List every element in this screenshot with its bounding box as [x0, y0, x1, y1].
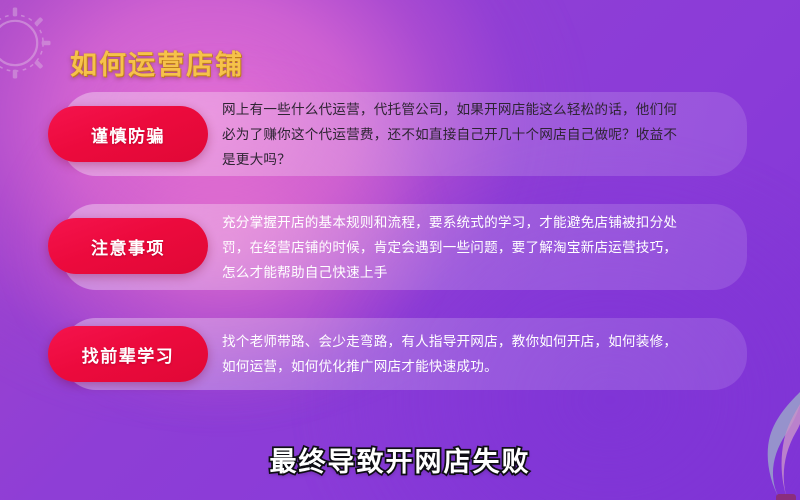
card-3-body: 找个老师带路、会少走弯路，有人指导开网店，教你如何开店，如何装修， 如何运营，如…	[222, 318, 725, 390]
card-1-text: 网上有一些什么代运营，代托管公司，如果开网店能这么轻松的话，他们何 必为了赚你这…	[222, 97, 725, 172]
card-2-text: 充分掌握开店的基本规则和流程，要系统式的学习，才能避免店铺被扣分处 罚，在经营店…	[222, 210, 725, 285]
card-1-tag-label: 谨慎防骗	[91, 122, 165, 147]
card-2-body: 充分掌握开店的基本规则和流程，要系统式的学习，才能避免店铺被扣分处 罚，在经营店…	[222, 204, 725, 290]
card-1-body: 网上有一些什么代运营，代托管公司，如果开网店能这么轻松的话，他们何 必为了赚你这…	[222, 92, 725, 176]
card-3-tag-label: 找前辈学习	[82, 342, 175, 367]
card-3-text: 找个老师带路、会少走弯路，有人指导开网店，教你如何开店，如何装修， 如何运营，如…	[222, 329, 725, 379]
bottom-caption: 最终导致开网店失败	[0, 440, 800, 479]
card-2-tag-label: 注意事项	[91, 234, 165, 259]
page-title: 如何运营店铺	[70, 43, 244, 82]
gear-ring-icon	[0, 6, 52, 80]
card-1-tag-button[interactable]: 谨慎防骗	[48, 106, 208, 162]
card-3-tag-button[interactable]: 找前辈学习	[48, 326, 208, 382]
slide-canvas: 如何运营店铺 网上有一些什么代运营，代托管公司，如果开网店能这么轻松的话，他们何…	[0, 0, 800, 500]
card-2-tag-button[interactable]: 注意事项	[48, 218, 208, 274]
